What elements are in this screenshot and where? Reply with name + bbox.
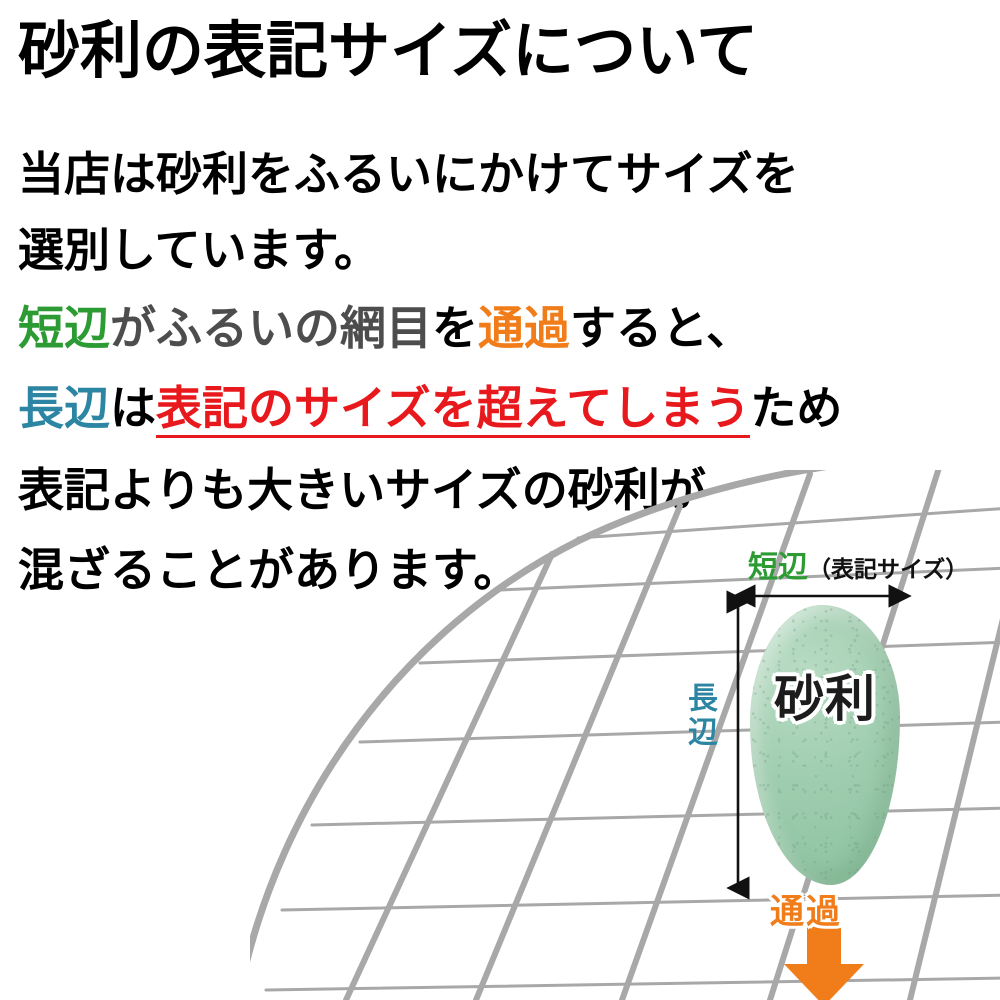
body-line-4: 長辺は表記のサイズを超えてしまうため	[18, 380, 842, 436]
mesh-phrase: がふるいの網目	[110, 302, 432, 354]
short-side-note-text: （表記サイズ）	[808, 556, 968, 582]
body-line-2-text: 選別しています。	[18, 224, 380, 276]
body-line-1-text: 当店は砂利をふるいにかけてサイズを	[18, 148, 799, 200]
exceeds-size-highlight: 表記のサイズを超えてしまう	[156, 382, 750, 438]
sieve-diagram: 砂利 短辺（表記サイズ） 長辺 通過	[250, 470, 1000, 1000]
body-line-3-particle: を	[432, 302, 478, 354]
body-line-3: 短辺がふるいの網目を通過すると、	[18, 300, 752, 356]
pass-through-arrow	[784, 926, 864, 1000]
pass-highlight: 通過	[478, 302, 570, 354]
long-side-label: 長辺	[682, 682, 716, 750]
infographic-canvas: 砂利の表記サイズについて 当店は砂利をふるいにかけてサイズを 選別しています。 …	[0, 0, 1000, 1000]
short-side-label-text: 短辺	[748, 551, 808, 584]
page-title: 砂利の表記サイズについて	[18, 16, 758, 88]
short-side-highlight: 短辺	[18, 302, 110, 354]
gravel-stone-label: 砂利	[766, 670, 884, 728]
body-line-4-tail: ため	[750, 382, 842, 434]
body-line-2: 選別しています。	[18, 222, 380, 278]
body-line-3-tail: すると、	[570, 302, 752, 354]
body-line-4-particle: は	[110, 382, 156, 434]
long-side-highlight: 長辺	[18, 382, 110, 434]
short-side-label: 短辺（表記サイズ）	[748, 542, 968, 586]
body-line-1: 当店は砂利をふるいにかけてサイズを	[18, 146, 799, 202]
pass-through-label: 通過	[770, 884, 842, 933]
